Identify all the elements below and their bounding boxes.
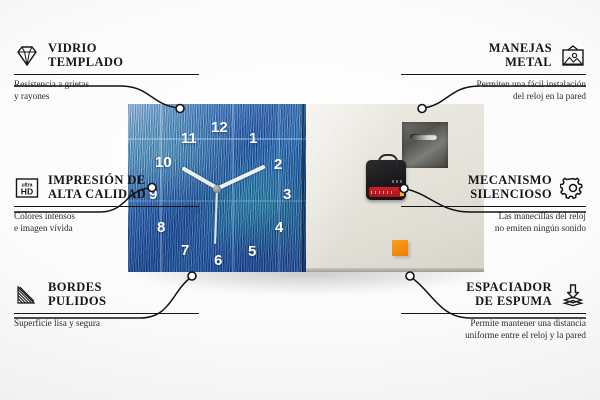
picture-hanger-icon xyxy=(560,44,586,68)
diamond-icon xyxy=(14,44,40,68)
foam-spacer-pad xyxy=(392,240,408,256)
callout-desc-line2: del reloj en la pared xyxy=(401,91,586,102)
ultra-hd-icon-main: HD xyxy=(21,186,33,196)
callout-title-line2: DE ESPUMA xyxy=(466,295,552,309)
callout-manejas-metal[interactable]: MANEJAS METAL Permiten una fácil instala… xyxy=(401,42,586,102)
clock-numeral-10: 10 xyxy=(155,155,172,170)
ultra-hd-icon: ultra HD xyxy=(14,176,40,200)
clock-numeral-4: 4 xyxy=(275,220,283,235)
clock-mechanism xyxy=(366,160,406,200)
clock-numeral-12: 12 xyxy=(211,120,228,135)
callout-title-line2: SILENCIOSO xyxy=(468,188,552,202)
callout-impresion-alta-calidad[interactable]: ultra HD IMPRESIÓN DE ALTA CALIDAD Color… xyxy=(14,174,199,234)
callout-rule xyxy=(14,206,199,207)
callout-mecanismo-silencioso[interactable]: MECANISMO SILENCIOSO Las manecillas del … xyxy=(401,174,586,234)
callout-title-line2: PULIDOS xyxy=(48,295,106,309)
callout-desc-line2: e imagen vívida xyxy=(14,223,199,234)
callout-espaciador-espuma[interactable]: ESPACIADOR DE ESPUMA Permite mantener un… xyxy=(401,281,586,341)
callout-rule xyxy=(401,74,586,75)
callout-title-line1: IMPRESIÓN DE xyxy=(48,174,146,188)
callout-title-line1: VIDRIO xyxy=(48,42,123,56)
clock-numeral-3: 3 xyxy=(283,187,291,202)
infographic-canvas: 12 1 2 3 4 5 6 7 8 9 10 11 xyxy=(0,0,600,400)
clock-center-pin xyxy=(213,185,221,193)
clock-numeral-7: 7 xyxy=(181,243,189,258)
callout-desc-line1: Las manecillas del reloj xyxy=(401,211,586,222)
callout-rule xyxy=(401,206,586,207)
callout-rule xyxy=(14,74,199,75)
callout-bordes-pulidos[interactable]: BORDES PULIDOS Superficie lisa y segura xyxy=(14,281,199,330)
callout-rule xyxy=(14,313,199,314)
callout-desc-line1: Colores intensos xyxy=(14,211,199,222)
foam-spacer-icon xyxy=(560,283,586,307)
callout-title-line1: MECANISMO xyxy=(468,174,552,188)
clock-numeral-1: 1 xyxy=(249,131,257,146)
clock-numeral-6: 6 xyxy=(214,253,222,268)
callout-desc-line1: Superficie lisa y segura xyxy=(14,318,199,329)
callout-desc-line1: Permite mantener una distancia xyxy=(401,318,586,329)
callout-title-line2: METAL xyxy=(489,56,552,70)
clock-numeral-2: 2 xyxy=(274,157,282,172)
callout-vidrio-templado[interactable]: VIDRIO TEMPLADO Resistencia a grietas y … xyxy=(14,42,199,102)
polished-edge-icon xyxy=(14,283,40,307)
callout-title-line1: BORDES xyxy=(48,281,106,295)
callout-desc-line2: no emiten ningún sonido xyxy=(401,223,586,234)
clock-numeral-11: 11 xyxy=(181,131,197,146)
metal-hanger-plate xyxy=(402,122,448,168)
gear-icon xyxy=(560,176,586,200)
callout-title-line2: ALTA CALIDAD xyxy=(48,188,146,202)
callout-title-line1: ESPACIADOR xyxy=(466,281,552,295)
callout-rule xyxy=(401,313,586,314)
callout-desc-line1: Permiten una fácil instalación xyxy=(401,79,586,90)
callout-title-line1: MANEJAS xyxy=(489,42,552,56)
callout-title-line2: TEMPLADO xyxy=(48,56,123,70)
callout-desc-line1: Resistencia a grietas xyxy=(14,79,199,90)
clock-numeral-5: 5 xyxy=(248,244,256,259)
callout-desc-line2: uniforme entre el reloj y la pared xyxy=(401,330,586,341)
callout-desc-line2: y rayones xyxy=(14,91,199,102)
